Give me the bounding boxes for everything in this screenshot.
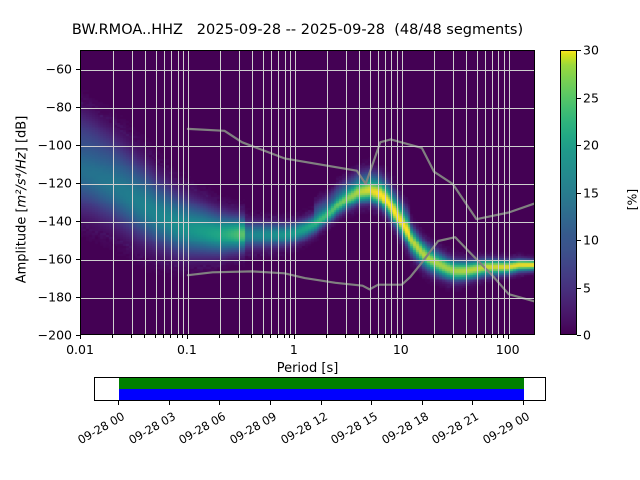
y-axis-tick-label: −180 bbox=[0, 290, 72, 305]
x-axis-tick-mark-minor bbox=[326, 335, 327, 338]
x-axis-tick-mark-minor bbox=[377, 335, 378, 338]
timeline-tick-label: 09-28 18 bbox=[373, 409, 430, 450]
gridline-vertical bbox=[359, 51, 360, 334]
gridline-vertical bbox=[220, 51, 221, 334]
y-axis-tick-mark bbox=[76, 297, 80, 298]
gridline-vertical bbox=[378, 51, 379, 334]
timeline-coverage-green bbox=[119, 378, 524, 389]
timeline-tick-label: 09-28 00 bbox=[70, 409, 127, 450]
timeline-tick-label: 09-28 15 bbox=[323, 409, 380, 450]
colorbar-tick-mark bbox=[577, 50, 581, 51]
x-axis-tick-label: 0.01 bbox=[66, 342, 94, 357]
timeline-tick-mark bbox=[219, 401, 220, 405]
gridline-vertical bbox=[370, 51, 371, 334]
gridline-vertical bbox=[183, 51, 184, 334]
gridline-vertical bbox=[477, 51, 478, 334]
x-axis-tick-label: 1 bbox=[290, 342, 298, 357]
y-axis-tick-label: −60 bbox=[0, 62, 72, 77]
x-axis-tick-mark-minor bbox=[262, 335, 263, 338]
low-noise-model-curve bbox=[188, 237, 535, 302]
y-axis-tick-mark bbox=[76, 221, 80, 222]
gridline-vertical bbox=[188, 51, 189, 334]
gridline-vertical bbox=[278, 51, 279, 334]
x-axis-tick-mark-minor bbox=[277, 335, 278, 338]
x-axis-tick-mark-minor bbox=[289, 335, 290, 338]
x-axis-tick-mark-minor bbox=[433, 335, 434, 338]
x-axis-tick-mark-minor bbox=[177, 335, 178, 338]
gridline-vertical bbox=[252, 51, 253, 334]
x-axis-tick-mark-minor bbox=[484, 335, 485, 338]
x-axis-tick-mark-minor bbox=[452, 335, 453, 338]
timeline-tick-label: 09-28 06 bbox=[171, 409, 228, 450]
timeline-tick-label: 09-28 03 bbox=[120, 409, 177, 450]
x-axis-tick-label: 100 bbox=[496, 342, 520, 357]
timeline-tick-label: 09-28 09 bbox=[222, 409, 279, 450]
timeline-tick-label: 09-28 21 bbox=[424, 409, 481, 450]
gridline-vertical bbox=[239, 51, 240, 334]
gridline-vertical bbox=[295, 51, 296, 334]
gridline-horizontal bbox=[81, 146, 534, 147]
x-axis-tick-label: 10 bbox=[393, 342, 409, 357]
y-axis-tick-label: −160 bbox=[0, 252, 72, 267]
x-axis-tick-mark-minor bbox=[182, 335, 183, 338]
x-axis-tick-mark-minor bbox=[465, 335, 466, 338]
timeline-tick-mark bbox=[118, 401, 119, 405]
gridline-vertical bbox=[453, 51, 454, 334]
x-axis-tick-label: 0.1 bbox=[177, 342, 197, 357]
x-axis-tick-mark-minor bbox=[358, 335, 359, 338]
x-axis-label: Period [s] bbox=[80, 361, 535, 376]
timeline-coverage-blue bbox=[119, 389, 524, 400]
colorbar[interactable] bbox=[560, 50, 577, 335]
y-axis-tick-mark bbox=[76, 183, 80, 184]
gridline-horizontal bbox=[81, 260, 534, 261]
gridline-horizontal bbox=[81, 184, 534, 185]
gridline-vertical bbox=[492, 51, 493, 334]
gridline-vertical bbox=[346, 51, 347, 334]
gridline-vertical bbox=[397, 51, 398, 334]
x-axis-tick-mark-major bbox=[508, 335, 509, 339]
x-axis-tick-mark-minor bbox=[155, 335, 156, 338]
timeline-tick-label: 09-29 00 bbox=[475, 409, 532, 450]
colorbar-tick-label: 0 bbox=[583, 328, 591, 343]
x-axis-tick-mark-minor bbox=[251, 335, 252, 338]
x-axis-tick-mark-minor bbox=[345, 335, 346, 338]
gridline-vertical bbox=[156, 51, 157, 334]
x-axis-tick-mark-minor bbox=[170, 335, 171, 338]
ppsd-plot-area[interactable] bbox=[80, 50, 535, 335]
gridline-vertical bbox=[263, 51, 264, 334]
x-axis-tick-mark-minor bbox=[219, 335, 220, 338]
colorbar-tick-mark bbox=[577, 98, 581, 99]
gridline-vertical bbox=[498, 51, 499, 334]
x-axis-tick-mark-major bbox=[187, 335, 188, 339]
x-axis-tick-mark-minor bbox=[163, 335, 164, 338]
gridline-vertical bbox=[113, 51, 114, 334]
ppsd-figure: BW.RMOA..HHZ 2025-09-28 -- 2025-09-28 (4… bbox=[0, 0, 640, 480]
timeline-tick-mark bbox=[270, 401, 271, 405]
page-title: BW.RMOA..HHZ 2025-09-28 -- 2025-09-28 (4… bbox=[0, 22, 595, 38]
x-axis-tick-mark-major bbox=[401, 335, 402, 339]
y-axis-tick-mark bbox=[76, 107, 80, 108]
colorbar-label: [%] bbox=[625, 160, 640, 240]
gridline-vertical bbox=[385, 51, 386, 334]
gridline-vertical bbox=[145, 51, 146, 334]
x-axis-tick-mark-minor bbox=[491, 335, 492, 338]
x-axis-tick-mark-minor bbox=[497, 335, 498, 338]
x-axis-tick-mark-minor bbox=[369, 335, 370, 338]
timeline-tick-mark bbox=[472, 401, 473, 405]
gridline-vertical bbox=[402, 51, 403, 334]
gridline-vertical bbox=[171, 51, 172, 334]
y-axis-tick-mark bbox=[76, 69, 80, 70]
x-axis-tick-mark-minor bbox=[112, 335, 113, 338]
x-axis-tick-mark-major bbox=[80, 335, 81, 339]
gridline-horizontal bbox=[81, 298, 534, 299]
x-axis-tick-mark-minor bbox=[270, 335, 271, 338]
gridline-vertical bbox=[434, 51, 435, 334]
gridline-vertical bbox=[391, 51, 392, 334]
timeline-tick-mark bbox=[321, 401, 322, 405]
x-axis-tick-mark-minor bbox=[384, 335, 385, 338]
x-axis-tick-mark-minor bbox=[476, 335, 477, 338]
timeline-tick-mark bbox=[371, 401, 372, 405]
gridline-vertical bbox=[327, 51, 328, 334]
gridline-vertical bbox=[132, 51, 133, 334]
colorbar-tick-label: 30 bbox=[583, 43, 599, 58]
x-axis-tick-mark-minor bbox=[396, 335, 397, 338]
high-noise-model-curve bbox=[188, 129, 535, 219]
gridline-vertical bbox=[178, 51, 179, 334]
timeline-tick-mark bbox=[422, 401, 423, 405]
colorbar-tick-mark bbox=[577, 145, 581, 146]
colorbar-tick-label: 20 bbox=[583, 138, 599, 153]
x-axis-tick-mark-minor bbox=[284, 335, 285, 338]
gridline-horizontal bbox=[81, 222, 534, 223]
y-axis-tick-label: −100 bbox=[0, 138, 72, 153]
timeline-tick-mark bbox=[169, 401, 170, 405]
colorbar-tick-mark bbox=[577, 240, 581, 241]
colorbar-tick-label: 15 bbox=[583, 185, 599, 200]
x-axis-tick-mark-minor bbox=[238, 335, 239, 338]
y-axis-tick-label: −140 bbox=[0, 214, 72, 229]
timeline-tick-label: 09-28 12 bbox=[272, 409, 329, 450]
colorbar-tick-mark bbox=[577, 288, 581, 289]
x-axis-tick-mark-minor bbox=[131, 335, 132, 338]
gridline-horizontal bbox=[81, 70, 534, 71]
colorbar-tick-label: 25 bbox=[583, 90, 599, 105]
x-axis-tick-mark-minor bbox=[503, 335, 504, 338]
y-axis-tick-mark bbox=[76, 259, 80, 260]
gridline-vertical bbox=[466, 51, 467, 334]
colorbar-tick-label: 10 bbox=[583, 233, 599, 248]
colorbar-tick-mark bbox=[577, 335, 581, 336]
colorbar-tick-label: 5 bbox=[583, 280, 591, 295]
y-axis-tick-mark bbox=[76, 145, 80, 146]
gridline-horizontal bbox=[81, 108, 534, 109]
gridline-vertical bbox=[290, 51, 291, 334]
x-axis-tick-mark-minor bbox=[390, 335, 391, 338]
colorbar-tick-mark bbox=[577, 193, 581, 194]
y-axis-tick-label: −200 bbox=[0, 328, 72, 343]
y-axis-tick-label: −80 bbox=[0, 100, 72, 115]
gridline-vertical bbox=[485, 51, 486, 334]
gridline-vertical bbox=[509, 51, 510, 334]
timeline-tick-mark bbox=[523, 401, 524, 405]
gridline-vertical bbox=[285, 51, 286, 334]
x-axis-tick-mark-minor bbox=[144, 335, 145, 338]
gridline-vertical bbox=[504, 51, 505, 334]
y-axis-tick-label: −120 bbox=[0, 176, 72, 191]
gridline-vertical bbox=[271, 51, 272, 334]
data-coverage-timeline[interactable] bbox=[94, 377, 546, 401]
x-axis-tick-mark-major bbox=[294, 335, 295, 339]
gridline-vertical bbox=[164, 51, 165, 334]
